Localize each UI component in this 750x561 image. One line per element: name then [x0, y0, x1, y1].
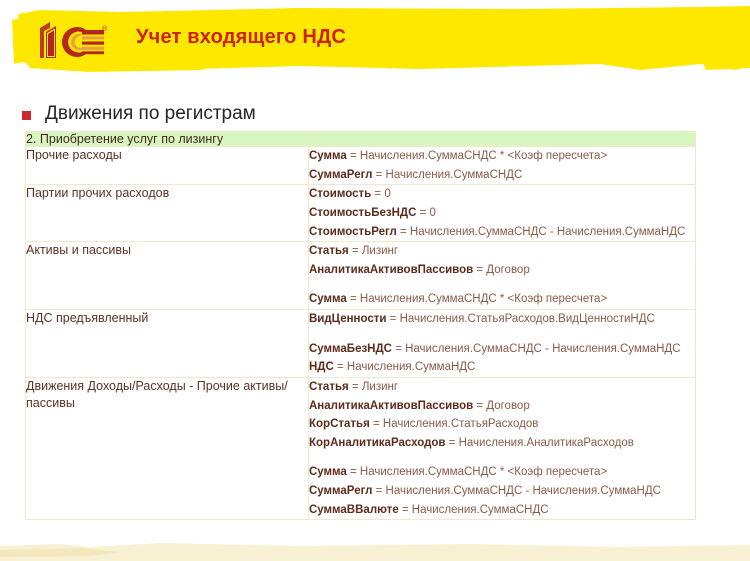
header-banner — [0, 0, 750, 90]
formula-value: = Начисления.СуммаСНДС * <Коэф пересчета… — [347, 466, 607, 478]
formula-value: = Лизинг — [349, 381, 398, 393]
formula-field: ВидЦенности — [309, 313, 386, 325]
formula-field: Статья — [309, 245, 349, 257]
formula-value: = Начисления.СуммаСНДС — [372, 169, 522, 181]
formula-field: СуммаВВалюте — [309, 504, 399, 516]
formula-value: = 0 — [371, 188, 391, 200]
table-body: Прочие расходыСумма = Начисления.СуммаСН… — [26, 147, 696, 520]
formula-line: СтоимостьБезНДС = 0 — [309, 204, 695, 223]
formula-field: СтоимостьБезНДС — [309, 207, 416, 219]
register-formula-cell: Статья = ЛизингАналитикаАктивовПассивов … — [309, 242, 696, 310]
registers-table: 2. Приобретение услуг по лизингу Прочие … — [25, 131, 696, 520]
formula-line: Сумма = Начисления.СуммаСНДС * <Коэф пер… — [309, 290, 695, 309]
register-name-cell: НДС предъявленный — [26, 310, 309, 378]
section-title: Движения по регистрам — [45, 103, 256, 125]
formula-value: = Договор — [473, 400, 530, 412]
formula-field: Сумма — [309, 293, 347, 305]
formula-value: = Начисления.СуммаСНДС - Начисления.Сумм… — [392, 343, 681, 355]
table-header-right — [309, 132, 696, 147]
formula-line: НДС = Начисления.СуммаНДС — [309, 358, 695, 377]
formula-value: = Лизинг — [349, 245, 398, 257]
register-name-cell: Партии прочих расходов — [26, 185, 309, 242]
formula-value: = Начисления.СуммаСНДС — [399, 504, 549, 516]
formula-field: АналитикаАктивовПассивов — [309, 400, 473, 412]
table-row: Партии прочих расходовСтоимость = 0Стоим… — [26, 185, 696, 242]
register-name-cell: Движения Доходы/Расходы - Прочие активы/… — [26, 377, 309, 519]
formula-line: Сумма = Начисления.СуммаСНДС * <Коэф пер… — [309, 147, 695, 166]
formula-field: СуммаБезНДС — [309, 343, 392, 355]
register-formula-cell: ВидЦенности = Начисления.СтатьяРасходов.… — [309, 310, 696, 378]
formula-field: АналитикаАктивовПассивов — [309, 264, 473, 276]
square-bullet-icon — [22, 111, 31, 120]
table-row: НДС предъявленныйВидЦенности = Начислени… — [26, 310, 696, 378]
register-name-cell: Активы и пассивы — [26, 242, 309, 310]
formula-line: СтоимостьРегл = Начисления.СуммаСНДС - Н… — [309, 223, 695, 242]
formula-line: ВидЦенности = Начисления.СтатьяРасходов.… — [309, 310, 695, 329]
formula-field: КорАналитикаРасходов — [309, 437, 445, 449]
formula-value: = 0 — [416, 207, 436, 219]
formula-spacer — [309, 452, 695, 463]
formula-field: КорСтатья — [309, 418, 370, 430]
table-row: Движения Доходы/Расходы - Прочие активы/… — [26, 377, 696, 519]
formula-line: СуммаРегл = Начисления.СуммаСНДС — [309, 166, 695, 185]
formula-value: = Начисления.СуммаНДС — [334, 361, 476, 373]
formula-line: СуммаБезНДС = Начисления.СуммаСНДС - Нач… — [309, 340, 695, 359]
formula-value: = Начисления.СуммаСНДС * <Коэф пересчета… — [347, 150, 607, 162]
formula-field: НДС — [309, 361, 334, 373]
register-name-cell: Прочие расходы — [26, 147, 309, 185]
table-row: Прочие расходыСумма = Начисления.СуммаСН… — [26, 147, 696, 185]
formula-value: = Начисления.СтатьяРасходов.ВидЦенностиН… — [386, 313, 654, 325]
formula-line: Сумма = Начисления.СуммаСНДС * <Коэф пер… — [309, 463, 695, 482]
logo-digit-one — [40, 22, 56, 58]
formula-value: = Начисления.АналитикаРасходов — [445, 437, 633, 449]
formula-field: СуммаРегл — [309, 485, 372, 497]
register-formula-cell: Сумма = Начисления.СуммаСНДС * <Коэф пер… — [309, 147, 696, 185]
formula-line: КорАналитикаРасходов = Начисления.Аналит… — [309, 434, 695, 453]
formula-value: = Начисления.СуммаСНДС - Начисления.Сумм… — [372, 485, 661, 497]
formula-field: СуммаРегл — [309, 169, 372, 181]
formula-line: АналитикаАктивовПассивов = Договор — [309, 397, 695, 416]
formula-field: СтоимостьРегл — [309, 226, 397, 238]
formula-line: КорСтатья = Начисления.СтатьяРасходов — [309, 415, 695, 434]
formula-line: СуммаРегл = Начисления.СуммаСНДС - Начис… — [309, 482, 695, 501]
formula-field: Стоимость — [309, 188, 371, 200]
table-row: Активы и пассивыСтатья = ЛизингАналитика… — [26, 242, 696, 310]
formula-value: = Начисления.СтатьяРасходов — [370, 418, 539, 430]
table-header-left: 2. Приобретение услуг по лизингу — [26, 132, 309, 147]
formula-field: Статья — [309, 381, 349, 393]
formula-value: = Начисления.СуммаСНДС - Начисления.Сумм… — [397, 226, 686, 238]
section-heading: Движения по регистрам — [22, 103, 256, 125]
formula-line: Стоимость = 0 — [309, 185, 695, 204]
formula-line: АналитикаАктивовПассивов = Договор — [309, 261, 695, 280]
formula-line: Статья = Лизинг — [309, 242, 695, 261]
table-header-row: 2. Приобретение услуг по лизингу — [26, 132, 696, 147]
page-title: Учет входящего НДС — [136, 26, 346, 49]
1c-logo: ® — [38, 20, 110, 62]
footer-band — [0, 540, 750, 561]
formula-field: Сумма — [309, 150, 347, 162]
formula-value: = Начисления.СуммаСНДС * <Коэф пересчета… — [347, 293, 607, 305]
yellow-brush-stroke — [12, 6, 750, 72]
formula-value: = Договор — [473, 264, 530, 276]
formula-spacer — [309, 329, 695, 340]
register-formula-cell: Статья = ЛизингАналитикаАктивовПассивов … — [309, 377, 696, 519]
formula-spacer — [309, 279, 695, 290]
logo-letter-c — [62, 27, 104, 57]
registered-mark: ® — [102, 25, 108, 33]
formula-line: СуммаВВалюте = Начисления.СуммаСНДС — [309, 501, 695, 520]
register-formula-cell: Стоимость = 0СтоимостьБезНДС = 0Стоимост… — [309, 185, 696, 242]
formula-field: Сумма — [309, 466, 347, 478]
formula-line: Статья = Лизинг — [309, 378, 695, 397]
